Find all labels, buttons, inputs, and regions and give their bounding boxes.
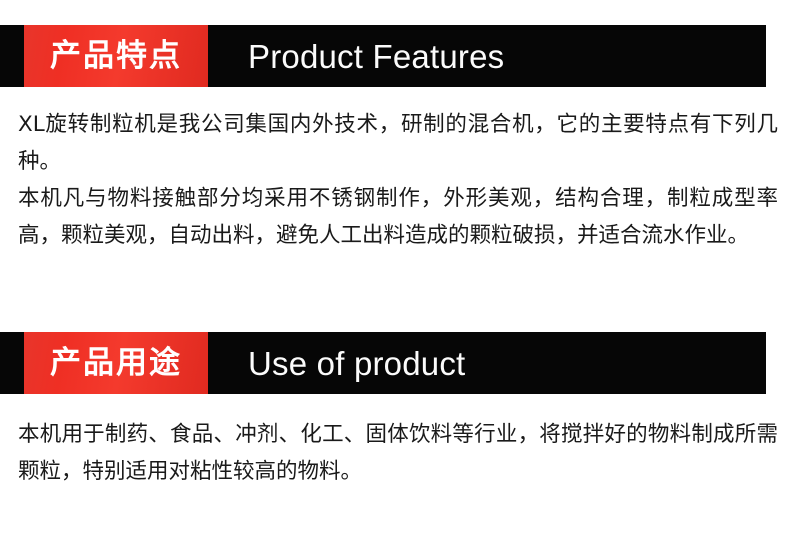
paragraph-features-1: XL旋转制粒机是我公司集国内外技术，研制的混合机，它的主要特点有下列几种。	[18, 106, 778, 180]
section-title-english-use-of-product: Use of product	[248, 332, 465, 394]
section-body-use-of-product: 本机用于制药、食品、冲剂、化工、固体饮料等行业，将搅拌好的物料制成所需颗粒，特别…	[18, 416, 778, 490]
section-body-product-features: XL旋转制粒机是我公司集国内外技术，研制的混合机，它的主要特点有下列几种。 本机…	[18, 106, 778, 254]
paragraph-features-2: 本机凡与物料接触部分均采用不锈钢制作，外形美观，结构合理，制粒成型率高，颗粒美观…	[18, 180, 778, 254]
product-description-page: 产品特点 Product Features XL旋转制粒机是我公司集国内外技术，…	[0, 0, 790, 549]
section-badge-label-chinese: 产品用途	[50, 348, 182, 379]
section-badge-label-chinese: 产品特点	[50, 41, 182, 72]
section-title-english-product-features: Product Features	[248, 25, 504, 87]
section-header-use-of-product: 产品用途 Use of product	[0, 332, 766, 394]
section-badge-product-features: 产品特点	[24, 25, 208, 87]
paragraph-use-1: 本机用于制药、食品、冲剂、化工、固体饮料等行业，将搅拌好的物料制成所需颗粒，特别…	[18, 416, 778, 490]
section-header-product-features: 产品特点 Product Features	[0, 25, 766, 87]
section-badge-use-of-product: 产品用途	[24, 332, 208, 394]
